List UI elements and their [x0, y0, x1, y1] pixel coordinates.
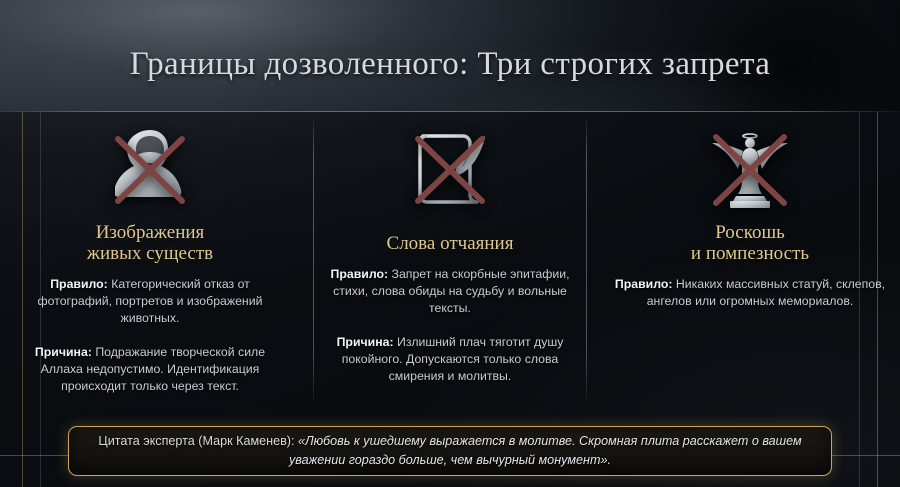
column-title-line1: Слова отчаяния — [387, 233, 514, 254]
page-title: Границы дозволенного: Три строгих запрет… — [0, 46, 900, 83]
rule-column-luxury: Роскошь и помпезность Правило: Никаких м… — [600, 113, 900, 408]
rule-paragraph: Правило: Категорический отказ от фотогра… — [14, 276, 286, 327]
rule-column-words: Слова отчаяния Правило: Запрет на скорбн… — [300, 113, 600, 408]
column-title: Роскошь и помпезность — [691, 222, 809, 264]
expert-quote-banner: Цитата эксперта (Марк Каменев): «Любовь … — [68, 426, 832, 476]
rule-label: Правило: — [50, 277, 108, 291]
column-title: Изображения живых существ — [87, 222, 213, 264]
reason-label: Причина: — [35, 345, 92, 359]
quote-body: «Любовь к ушедшему выражается в молитве.… — [289, 434, 802, 467]
reason-paragraph: Причина: Подражание творческой силе Алла… — [14, 344, 286, 395]
column-title-line2: и помпезность — [691, 243, 809, 264]
column-title-line1: Роскошь — [691, 222, 809, 243]
header-divider-rule — [0, 111, 900, 112]
crossed-out-scroll-quill-icon — [402, 125, 498, 213]
rule-text: Никаких массивных статуй, склепов, ангел… — [647, 277, 885, 308]
rule-column-images: Изображения живых существ Правило: Катег… — [0, 113, 300, 408]
rule-paragraph: Правило: Никаких массивных статуй, склеп… — [614, 276, 886, 310]
expert-quote-text: Цитата эксперта (Марк Каменев): «Любовь … — [69, 432, 831, 470]
header-band: Границы дозволенного: Три строгих запрет… — [0, 0, 900, 112]
rules-columns: Изображения живых существ Правило: Катег… — [0, 113, 900, 408]
column-title-line1: Изображения — [87, 222, 213, 243]
column-title: Слова отчаяния — [387, 233, 514, 254]
rule-label: Правило: — [331, 267, 389, 281]
infographic-slide: Границы дозволенного: Три строгих запрет… — [0, 0, 900, 487]
rule-label: Правило: — [615, 277, 673, 291]
reason-paragraph: Причина: Излишний плач тяготит душу поко… — [314, 334, 586, 385]
cross-out-mark — [702, 125, 798, 213]
crossed-out-angel-statue-icon — [702, 125, 798, 213]
reason-label: Причина: — [337, 335, 394, 349]
cross-out-mark — [102, 125, 198, 213]
crossed-out-portrait-bust-icon — [102, 125, 198, 213]
quote-prefix: Цитата эксперта (Марк Каменев): — [98, 434, 298, 448]
column-title-line2: живых существ — [87, 243, 213, 264]
rule-paragraph: Правило: Запрет на скорбные эпитафии, ст… — [314, 266, 586, 317]
cross-out-mark — [402, 125, 498, 213]
